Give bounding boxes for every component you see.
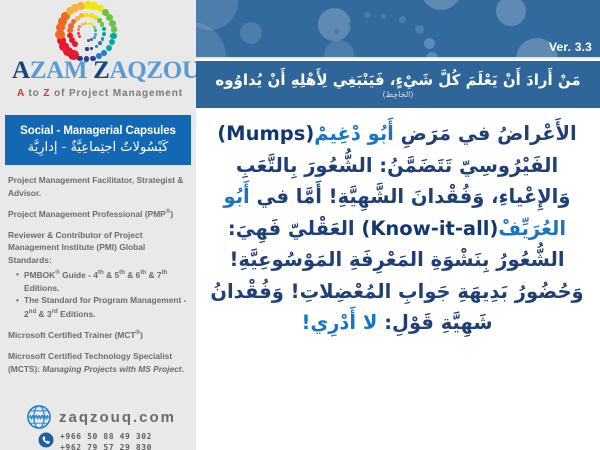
version-label: Ver. 3.3: [549, 40, 592, 54]
quote-source: (الجَاحِظ): [382, 90, 413, 99]
credential-reviewer-intro: Reviewer & Contributor of Project Manage…: [8, 229, 190, 267]
brand-name: AZAM ZAQZOUQ: [12, 57, 188, 85]
content-paragraph: الأَعْراضُ في مَرَضِ أَبُو دْغِيمْ(Mumps…: [206, 118, 588, 339]
phone-block: +966 50 88 49 302 +962 79 57 29 830: [38, 432, 152, 450]
phone-number-1: +966 50 88 49 302: [60, 432, 152, 443]
content-line-6: وَحُضُورُ بَدِيهَةِ جَوابِ المُعْضِلاتِ!: [291, 280, 584, 303]
spiral-dots-icon: [28, 2, 146, 58]
sidebar: AZAM ZAQZOUQ A to Z of Project Managemen…: [0, 0, 196, 450]
list-item: The Standard for Program Management - 2n…: [17, 294, 190, 320]
website-link[interactable]: www zaqzouq.com: [26, 404, 176, 430]
content-line-3: وَالإِعْياءِ، وَفُقْدانَ الشَّهِيَّةِ! أ…: [250, 185, 571, 208]
content-line-1-latin: (Mumps): [217, 122, 314, 145]
website-text: zaqzouq.com: [59, 409, 176, 426]
hero-banner: Ver. 3.3: [196, 0, 600, 57]
content-line-2: الفَيْرُوسِيّ تَتَضَمَّنُ: الشُّعُورَ بِ…: [236, 154, 558, 177]
globe-icon: www: [26, 404, 52, 430]
list-item: PMBOK® Guide - 4th & 5th & 6th & 7th Edi…: [17, 268, 190, 294]
phone-number-2: +962 79 57 29 830: [60, 443, 152, 450]
logo-block: AZAM ZAQZOUQ A to Z of Project Managemen…: [0, 0, 196, 110]
credential-pmp: Project Management Professional (PMP®): [8, 207, 190, 220]
content-line-4-highlight: العُرَيِّفْ: [498, 217, 566, 240]
credential-mct: Microsoft Certified Trainer (MCT®): [8, 328, 190, 341]
capsules-header: Social - Managerial Capsules كَبْسُولاتٌ…: [5, 115, 191, 165]
content-line-4-latin: (Know-it-all): [361, 217, 498, 240]
credentials-list: Project Management Facilitator, Strategi…: [8, 174, 190, 383]
quote-band: مَنْ أَرادَ أَنْ يَعْلَمَ كُلَّ شَيْءٍ، …: [196, 59, 600, 110]
content-line-1-highlight: أَبُو دْغِيمْ: [314, 122, 394, 145]
capsules-title-ar: كَبْسُولاتٌ اجتِماعِيَّةٌ - إدارِيَّة: [28, 140, 169, 155]
svg-text:www: www: [29, 413, 49, 422]
content-line-4-rest: العَقْليّ فَهِيَ:: [228, 217, 361, 240]
content-line-7-highlight: لا أَدْرِي!: [301, 311, 377, 334]
credential-facilitator: Project Management Facilitator, Strategi…: [8, 174, 190, 199]
main-content: الأَعْراضُ في مَرَضِ أَبُو دْغِيمْ(Mumps…: [196, 108, 600, 450]
phone-numbers: +966 50 88 49 302 +962 79 57 29 830: [60, 432, 152, 450]
content-line-1a: الأَعْراضُ في مَرَضِ: [394, 122, 577, 145]
slide-root: AZAM ZAQZOUQ A to Z of Project Managemen…: [0, 0, 600, 450]
content-line-3-highlight: أَبُو: [224, 185, 250, 208]
standards-list: PMBOK® Guide - 4th & 5th & 6th & 7th Edi…: [8, 268, 190, 320]
phone-icon: [38, 432, 54, 448]
quote-text: مَنْ أَرادَ أَنْ يَعْلَمَ كُلَّ شَيْءٍ، …: [215, 72, 580, 89]
brand-tagline: A to Z of Project Management: [12, 88, 188, 99]
credential-mcts: Microsoft Certified Technology Specialis…: [8, 350, 190, 375]
capsules-title-en: Social - Managerial Capsules: [20, 125, 176, 137]
content-line-5: الشُّعُورُ بِنَشْوَةِ المَعْرِفَةِ المَو…: [229, 248, 564, 271]
